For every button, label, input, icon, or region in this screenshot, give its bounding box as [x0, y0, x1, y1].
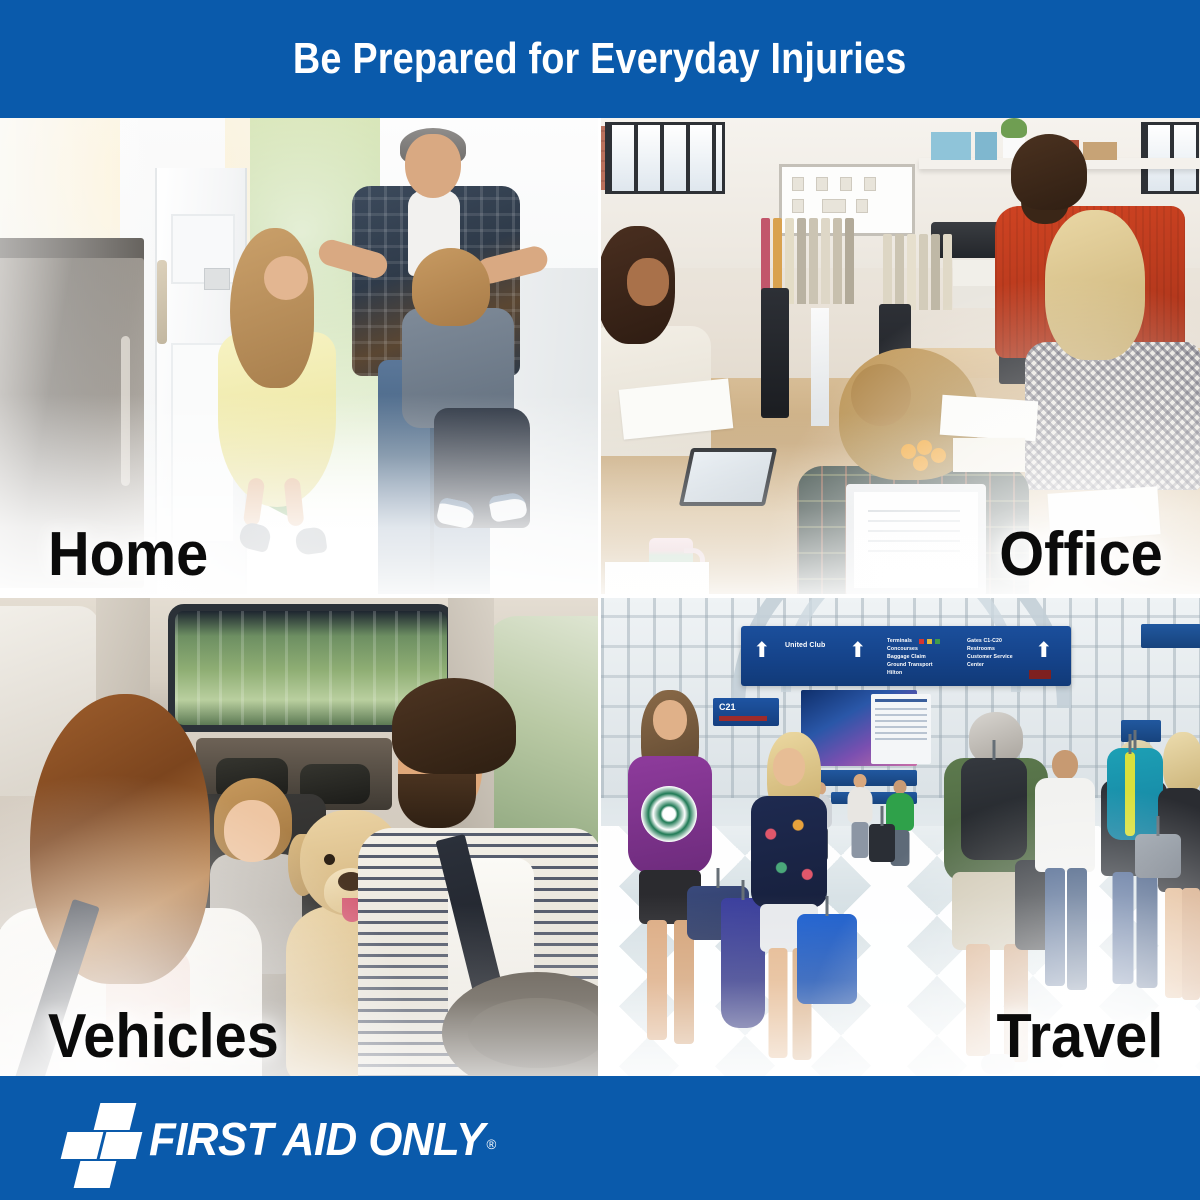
registered-trademark-icon: ®: [487, 1136, 496, 1152]
sign-restrooms: Restrooms: [967, 646, 995, 653]
tablet: [679, 448, 777, 506]
cell-label-office: Office: [1000, 524, 1163, 586]
brand-name: FIRST AID ONLY: [149, 1113, 485, 1165]
sign-center: Center: [967, 662, 984, 669]
category-grid: Home: [0, 118, 1200, 1076]
office-person-left: [601, 226, 731, 476]
grid-cell-office[interactable]: Office: [601, 118, 1200, 594]
sign-hilton: Hilton: [887, 670, 902, 677]
traveler-right-edge: [1157, 736, 1200, 1046]
advertisement-panel: [871, 694, 931, 764]
grid-cell-travel[interactable]: ⬆ United Club ⬆ Terminals Concourses Bag…: [601, 598, 1200, 1076]
sign-concourses: Concourses: [887, 646, 918, 653]
file-sorter-right: [883, 234, 961, 310]
traveler-purple-top: [625, 694, 715, 1058]
poster-canvas: Be Prepared for Everyday Injuries: [0, 0, 1200, 1200]
sign-terminals: Terminals: [887, 638, 912, 645]
footer-bar: FIRST AID ONLY®: [0, 1076, 1200, 1200]
sign-gates: Gates C1-C20: [967, 638, 1002, 645]
grid-cell-home[interactable]: Home: [0, 118, 598, 594]
header-banner: Be Prepared for Everyday Injuries: [0, 0, 1200, 118]
handbag-grey: [1135, 834, 1181, 878]
sign-baggage-claim: Baggage Claim: [887, 654, 926, 661]
cell-label-travel: Travel: [996, 1006, 1163, 1068]
grid-cell-vehicles[interactable]: Vehicles: [0, 598, 598, 1076]
boy-child-figure: [398, 248, 548, 538]
rolling-suitcase-blue: [797, 914, 857, 1004]
sign-ground-transport: Ground Transport: [887, 662, 933, 669]
office-window-left: [605, 122, 725, 194]
rolling-suitcase: [869, 824, 895, 862]
cell-label-home: Home: [48, 524, 208, 586]
traveler-floral-top: [749, 738, 829, 1060]
laptop: [846, 484, 986, 594]
brand-logo-text: FIRST AID ONLY®: [149, 1112, 496, 1166]
traveler-white-shirt: [1033, 750, 1097, 1042]
cell-label-vehicles: Vehicles: [48, 1006, 279, 1068]
desk-flowers: [901, 444, 947, 492]
backpack-black: [961, 758, 1027, 860]
backpack-teal: [1107, 748, 1163, 840]
overhead-wayfinding-sign: ⬆ United Club ⬆ Terminals Concourses Bag…: [741, 626, 1071, 686]
office-person-blonde-woman: [1021, 210, 1200, 490]
sign-united-club: United Club: [785, 642, 825, 649]
backpack-strap-yellow: [1125, 752, 1135, 836]
page-title: Be Prepared for Everyday Injuries: [293, 37, 906, 81]
girl-child-figure: [212, 228, 352, 548]
gate-sign-c21: C21: [713, 698, 779, 726]
brand-logo[interactable]: FIRST AID ONLY®: [50, 1102, 514, 1176]
first-aid-cross-icon: [50, 1102, 158, 1176]
sign-customer-service: Customer Service: [967, 654, 1013, 661]
